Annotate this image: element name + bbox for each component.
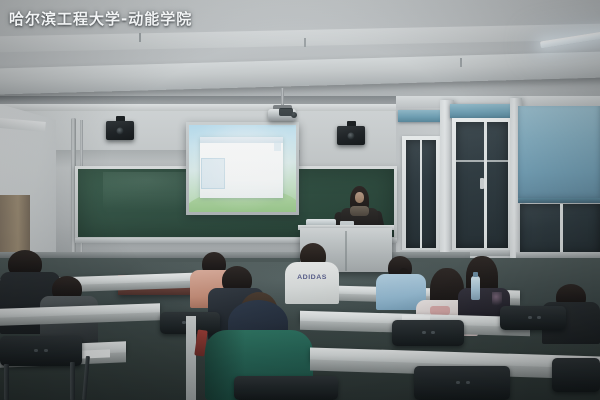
light-hanger	[460, 58, 462, 67]
chair-back-front-3[interactable]	[414, 366, 510, 400]
chair-back-middle-2[interactable]	[392, 320, 464, 346]
podium-seam	[345, 231, 347, 271]
window-title-bar	[200, 137, 283, 142]
floral-pattern	[492, 292, 502, 308]
light-hanger	[304, 38, 306, 47]
roller-blind-right-lowered[interactable]	[518, 106, 600, 201]
roller-blind-left[interactable]	[398, 110, 446, 122]
roller-blind-bottom-bar[interactable]	[518, 198, 600, 203]
chair-back-front-4[interactable]	[552, 358, 600, 392]
chair-back-front-2[interactable]	[234, 376, 338, 400]
watermark-text: 哈尔滨工程大学-动能学院	[9, 8, 192, 29]
chair-back-middle-3[interactable]	[500, 306, 566, 330]
water-bottle[interactable]	[471, 276, 480, 300]
paper-sheet-left[interactable]	[80, 349, 110, 358]
light-hanger	[139, 33, 141, 42]
window-mullion	[560, 204, 563, 254]
roller-blind-center[interactable]	[450, 104, 516, 118]
projection-screen-frame	[186, 122, 299, 215]
lecturer-scarf	[350, 206, 369, 216]
classroom-photo: ADIDAS	[0, 0, 600, 400]
wall-speaker-left	[106, 121, 134, 140]
window-handle[interactable]	[480, 178, 484, 189]
water-bottle-cap	[473, 272, 478, 277]
student-adidas-shirt	[285, 262, 339, 304]
window-mullion	[420, 140, 422, 248]
window-mullion	[484, 122, 487, 248]
chair-leg-2	[4, 364, 9, 400]
projector-lens-icon	[291, 112, 297, 118]
speaker-cone-icon	[348, 132, 355, 139]
window-right-control	[274, 141, 282, 151]
chair-leg-1	[70, 362, 75, 400]
lecturer-face	[355, 192, 364, 203]
wall-speaker-right	[337, 126, 365, 145]
speaker-cone-icon	[117, 127, 124, 134]
window-transom	[456, 160, 508, 162]
shirt-text: ADIDAS	[290, 274, 334, 280]
window-side-panel	[201, 158, 225, 189]
projection-screen	[189, 125, 296, 212]
projected-application-window	[200, 137, 283, 198]
desk-end-panel	[186, 316, 196, 400]
